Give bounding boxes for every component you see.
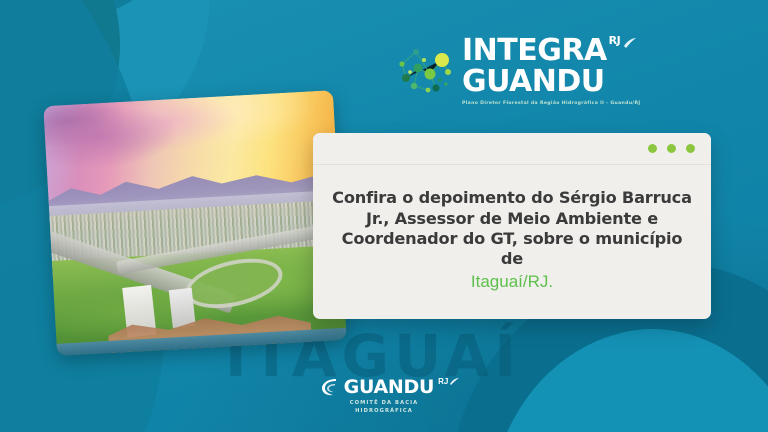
footer-rj-label: RJ [438,377,448,386]
message-card: Confira o depoimento do Sérgio Barruca J… [313,133,711,319]
rj-badge-label: RJ [609,34,621,47]
card-headline: Confira o depoimento do Sérgio Barruca J… [331,188,693,270]
footer-swoosh-icon [449,377,460,386]
card-title-bar [313,133,711,165]
itaguai-aerial-photo [43,90,347,356]
network-nodes-icon [396,38,456,102]
card-body: Confira o depoimento do Sérgio Barruca J… [313,165,711,319]
integra-guandu-logo: INTEGRA RJ GUANDU Plano Diretor Floresta… [396,34,640,106]
brand-subtitle: Plano Diretor Florestal da Região Hidrog… [462,101,640,106]
footer-logo-row: GUANDU RJ [320,376,449,398]
water-swirl-icon [320,376,340,398]
slide-canvas: ITAGUAÍ INTEGRA RJ [0,0,768,432]
footer-brand-label: GUANDU [344,378,434,397]
photo-building-short [169,288,196,328]
footer-subtitle: COMITÊ DA BACIA HIDROGRÁFICA [350,400,419,416]
window-dot-3[interactable] [686,144,695,153]
card-highlight: Itaguaí/RJ. [471,272,553,292]
rj-badge: RJ [609,35,621,46]
swoosh-icon [623,37,637,49]
window-dot-2[interactable] [667,144,676,153]
guandu-committee-logo: GUANDU RJ COMITÊ DA BACIA HIDROGRÁFICA [0,376,768,416]
footer-rj-badge: RJ [438,377,448,386]
window-dot-1[interactable] [648,144,657,153]
footer-subtitle-line-2: HIDROGRÁFICA [350,408,419,416]
brand-line-1: INTEGRA [462,36,607,66]
brand-line-2: GUANDU [462,66,640,98]
